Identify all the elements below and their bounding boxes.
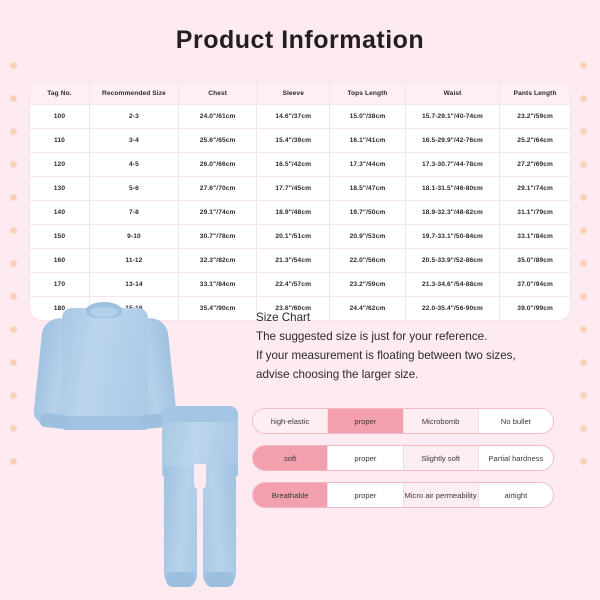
attribute-bar-softness: softproperSlightly softPartial hardness <box>253 446 553 470</box>
page-title: Product Information <box>0 26 600 55</box>
table-cell-recommended-size: 7-8 <box>89 201 178 225</box>
decorative-dot <box>580 194 587 201</box>
table-cell-waist: 16.5-29.9"/42-76cm <box>405 129 500 153</box>
table-cell-chest: 24.0"/61cm <box>178 105 256 129</box>
table-cell-tops-length: 19.7"/50cm <box>330 201 406 225</box>
table-cell-tops-length: 15.0"/38cm <box>330 105 406 129</box>
decorative-dot <box>580 95 587 102</box>
table-header-cell-6: Pants Length <box>500 82 570 105</box>
top-collar-inner <box>90 307 118 317</box>
table-header-cell-0: Tag No. <box>30 82 89 105</box>
decorative-dot <box>10 95 17 102</box>
table-cell-sleeve: 21.3"/54cm <box>257 249 330 273</box>
size-chart-line-1: The suggested size is just for your refe… <box>256 327 576 346</box>
table-row: 1204-526.0"/66cm16.5"/42cm17.3"/44cm17.3… <box>30 153 570 177</box>
product-image-area <box>24 296 254 596</box>
table-cell-waist: 21.3-34.6"/54-88cm <box>405 273 500 297</box>
table-header-cell-3: Sleeve <box>257 82 330 105</box>
table-cell-sleeve: 15.4"/39cm <box>257 129 330 153</box>
decorative-dot <box>580 425 587 432</box>
table-row: 1509-1030.7"/78cm20.1"/51cm20.9"/53cm19.… <box>30 225 570 249</box>
decorative-dot <box>580 161 587 168</box>
top-body <box>62 308 148 430</box>
table-cell-sleeve: 22.4"/57cm <box>257 273 330 297</box>
table-cell-tag-no: 130 <box>30 177 89 201</box>
table-cell-chest: 32.3"/82cm <box>178 249 256 273</box>
table-cell-recommended-size: 9-10 <box>89 225 178 249</box>
table-cell-recommended-size: 2-3 <box>89 105 178 129</box>
table-cell-pants-length: 27.2"/69cm <box>500 153 570 177</box>
attribute-bar-breathability: BreathableproperMicro air permeabilityai… <box>253 483 553 507</box>
table-cell-sleeve: 20.1"/51cm <box>257 225 330 249</box>
table-row: 16011-1232.3"/82cm21.3"/54cm22.0"/56cm20… <box>30 249 570 273</box>
table-cell-sleeve: 18.9"/48cm <box>257 201 330 225</box>
table-cell-tag-no: 110 <box>30 129 89 153</box>
pants-right-ankle-cuff <box>205 572 234 587</box>
table-header-cell-4: Tops Length <box>330 82 406 105</box>
decorative-dot <box>10 359 17 366</box>
attribute-scales: high-elasticproperMicrobombNo bulletsoft… <box>253 409 553 520</box>
table-cell-recommended-size: 5-6 <box>89 177 178 201</box>
decorative-dot <box>10 227 17 234</box>
decorative-dot <box>10 161 17 168</box>
pants-left-leg <box>164 466 197 586</box>
decorative-dot <box>580 128 587 135</box>
table-cell-tag-no: 100 <box>30 105 89 129</box>
table-row: 1103-425.6"/65cm15.4"/39cm16.1"/41cm16.5… <box>30 129 570 153</box>
attribute-option[interactable]: proper <box>328 483 403 507</box>
table-cell-chest: 33.1"/84cm <box>178 273 256 297</box>
size-chart-note: Size Chart The suggested size is just fo… <box>256 308 576 384</box>
table-cell-tops-length: 18.5"/47cm <box>330 177 406 201</box>
decorative-dot <box>580 458 587 465</box>
decorative-dot <box>10 326 17 333</box>
table-row: 1305-627.6"/70cm17.7"/45cm18.5"/47cm18.1… <box>30 177 570 201</box>
decorative-dot <box>580 293 587 300</box>
decorative-dot <box>580 62 587 69</box>
size-table-container: Tag No.Recommended SizeChestSleeveTops L… <box>30 82 570 320</box>
table-cell-tops-length: 17.3"/44cm <box>330 153 406 177</box>
table-cell-chest: 26.0"/66cm <box>178 153 256 177</box>
table-row: 1002-324.0"/61cm14.6"/37cm15.0"/38cm15.7… <box>30 105 570 129</box>
attribute-option[interactable]: Microbomb <box>404 409 479 433</box>
table-header-cell-5: Waist <box>405 82 500 105</box>
pants-crotch-gap <box>194 464 206 490</box>
attribute-bar-elasticity: high-elasticproperMicrobombNo bullet <box>253 409 553 433</box>
table-cell-tops-length: 22.0"/56cm <box>330 249 406 273</box>
attribute-option[interactable]: soft <box>253 446 328 470</box>
decorative-dot <box>10 293 17 300</box>
table-cell-pants-length: 35.0"/89cm <box>500 249 570 273</box>
decorative-dot <box>580 227 587 234</box>
size-chart-line-2: If your measurement is floating between … <box>256 346 576 365</box>
table-cell-chest: 25.6"/65cm <box>178 129 256 153</box>
attribute-option[interactable]: Breathable <box>253 483 328 507</box>
table-cell-recommended-size: 13-14 <box>89 273 178 297</box>
right-dot-decoration <box>572 0 598 600</box>
table-cell-recommended-size: 11-12 <box>89 249 178 273</box>
top-hem <box>62 416 148 430</box>
table-cell-pants-length: 23.2"/59cm <box>500 105 570 129</box>
table-cell-sleeve: 16.5"/42cm <box>257 153 330 177</box>
table-cell-tag-no: 120 <box>30 153 89 177</box>
table-cell-pants-length: 37.0"/94cm <box>500 273 570 297</box>
table-cell-waist: 15.7-29.1"/40-74cm <box>405 105 500 129</box>
pants-left-ankle-cuff <box>166 572 195 587</box>
attribute-option[interactable]: airtight <box>479 483 553 507</box>
table-header-row: Tag No.Recommended SizeChestSleeveTops L… <box>30 82 570 105</box>
decorative-dot <box>10 128 17 135</box>
attribute-option[interactable]: high-elastic <box>253 409 328 433</box>
table-cell-chest: 29.1"/74cm <box>178 201 256 225</box>
decorative-dot <box>10 458 17 465</box>
table-cell-tops-length: 23.2"/59cm <box>330 273 406 297</box>
pants-waistband <box>162 406 238 422</box>
size-chart-line-3: advise choosing the larger size. <box>256 365 576 384</box>
top-left-cuff <box>39 412 70 429</box>
decorative-dot <box>10 62 17 69</box>
table-cell-pants-length: 25.2"/64cm <box>500 129 570 153</box>
table-cell-tag-no: 160 <box>30 249 89 273</box>
size-chart-heading: Size Chart <box>256 308 576 327</box>
table-cell-chest: 30.7"/78cm <box>178 225 256 249</box>
table-cell-waist: 20.5-33.9"/52-86cm <box>405 249 500 273</box>
table-body: 1002-324.0"/61cm14.6"/37cm15.0"/38cm15.7… <box>30 105 570 321</box>
size-table: Tag No.Recommended SizeChestSleeveTops L… <box>30 82 570 320</box>
table-row: 1407-829.1"/74cm18.9"/48cm19.7"/50cm18.9… <box>30 201 570 225</box>
decorative-dot <box>10 392 17 399</box>
decorative-dot <box>580 392 587 399</box>
table-cell-tag-no: 150 <box>30 225 89 249</box>
table-cell-chest: 27.6"/70cm <box>178 177 256 201</box>
attribute-option[interactable]: Partial hardness <box>479 446 553 470</box>
attribute-option[interactable]: No bullet <box>479 409 553 433</box>
attribute-option[interactable]: Slightly soft <box>404 446 479 470</box>
table-cell-tag-no: 140 <box>30 201 89 225</box>
table-cell-tops-length: 16.1"/41cm <box>330 129 406 153</box>
table-row: 17013-1433.1"/84cm22.4"/57cm23.2"/59cm21… <box>30 273 570 297</box>
decorative-dot <box>10 425 17 432</box>
table-cell-waist: 18.1-31.5"/46-80cm <box>405 177 500 201</box>
table-cell-sleeve: 17.7"/45cm <box>257 177 330 201</box>
pants-right-leg <box>203 466 236 586</box>
decorative-dot <box>10 194 17 201</box>
decorative-dot <box>580 359 587 366</box>
table-cell-waist: 19.7-33.1"/50-84cm <box>405 225 500 249</box>
table-cell-pants-length: 33.1"/84cm <box>500 225 570 249</box>
table-cell-recommended-size: 4-5 <box>89 153 178 177</box>
table-cell-recommended-size: 3-4 <box>89 129 178 153</box>
decorative-dot <box>10 260 17 267</box>
attribute-option[interactable]: proper <box>328 409 403 433</box>
table-cell-waist: 17.3-30.7"/44-78cm <box>405 153 500 177</box>
table-cell-sleeve: 14.6"/37cm <box>257 105 330 129</box>
table-header-cell-1: Recommended Size <box>89 82 178 105</box>
table-header-cell-2: Chest <box>178 82 256 105</box>
attribute-option[interactable]: proper <box>328 446 403 470</box>
table-cell-tag-no: 170 <box>30 273 89 297</box>
decorative-dot <box>580 326 587 333</box>
table-cell-tops-length: 20.9"/53cm <box>330 225 406 249</box>
table-cell-pants-length: 31.1"/79cm <box>500 201 570 225</box>
decorative-dot <box>580 260 587 267</box>
attribute-option[interactable]: Micro air permeability <box>404 483 479 507</box>
table-cell-pants-length: 29.1"/74cm <box>500 177 570 201</box>
table-cell-waist: 18.9-32.3"/48-82cm <box>405 201 500 225</box>
